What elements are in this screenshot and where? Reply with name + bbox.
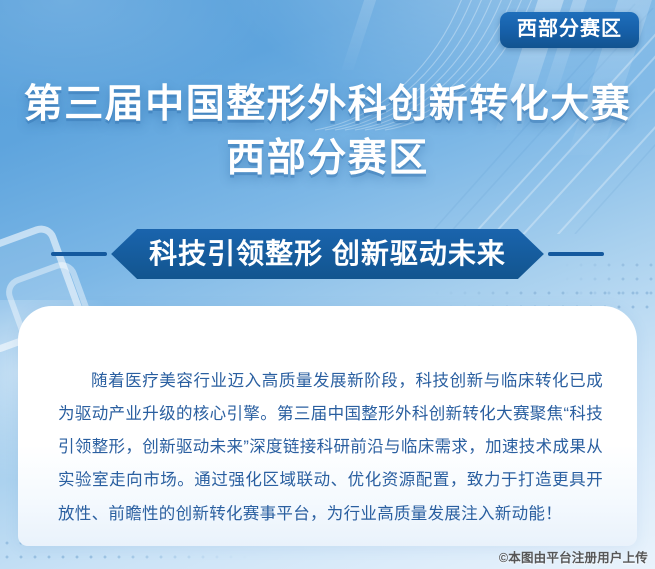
ribbon-dash-left-icon <box>51 252 107 256</box>
light-streak-decoration <box>341 0 382 70</box>
poster-root: 西部分赛区 第三届中国整形外科创新转化大赛 西部分赛区 科技引领整形 创新驱动未… <box>0 0 655 569</box>
slogan-ribbon: 科技引领整形 创新驱动未来 <box>111 229 544 279</box>
watermark-text: ©本图由平台注册用户上传 <box>499 547 648 566</box>
slogan-text: 科技引领整形 创新驱动未来 <box>149 240 506 268</box>
content-card: 随着医疗美容行业迈入高质量发展新阶段，科技创新与临床转化已成为驱动产业升级的核心… <box>18 306 637 546</box>
slogan-ribbon-row: 科技引领整形 创新驱动未来 <box>0 228 655 280</box>
title-line-1: 第三届中国整形外科创新转化大赛 <box>0 78 655 132</box>
region-badge: 西部分赛区 <box>500 12 639 48</box>
poster-title: 第三届中国整形外科创新转化大赛 西部分赛区 <box>0 78 655 186</box>
title-line-2: 西部分赛区 <box>0 132 655 186</box>
intro-paragraph: 随着医疗美容行业迈入高质量发展新阶段，科技创新与临床转化已成为驱动产业升级的核心… <box>58 365 603 532</box>
ribbon-dash-right-icon <box>548 252 604 256</box>
